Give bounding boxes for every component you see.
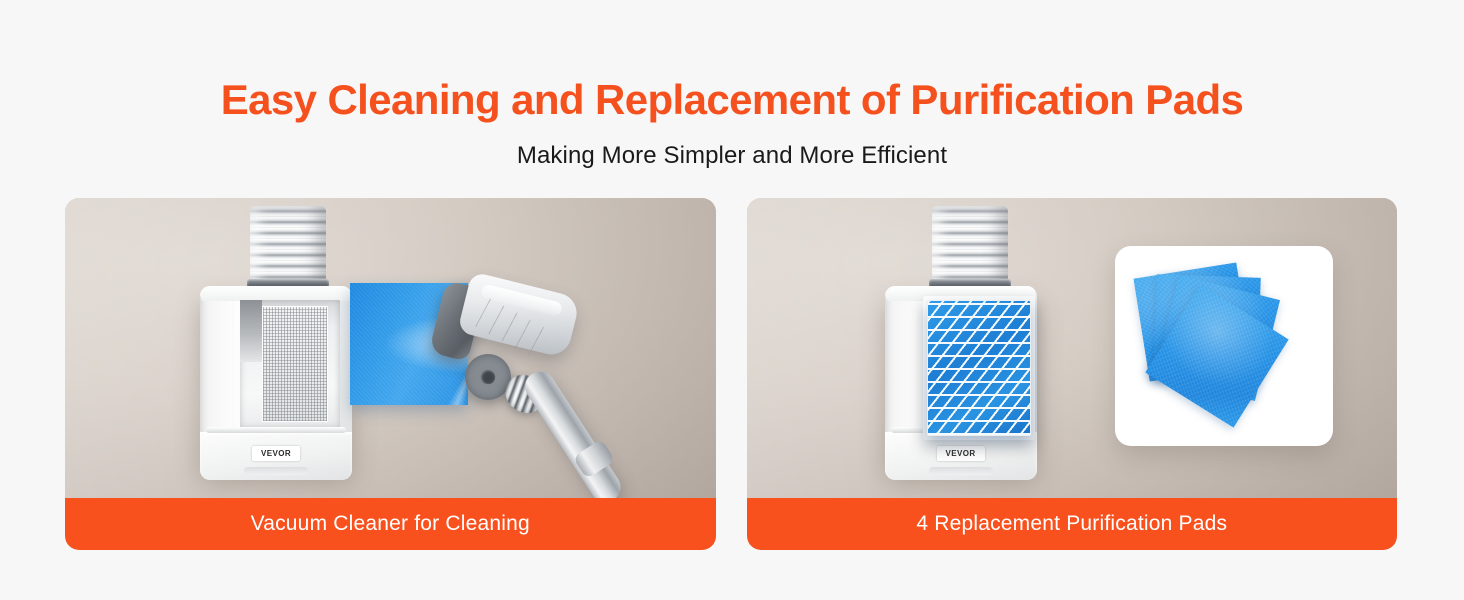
brand-label-vevor: VEVOR [252, 446, 300, 461]
purifier-open-cavity [240, 300, 340, 428]
panel-caption-right: 4 Replacement Purification Pads [747, 498, 1398, 550]
panel-vacuum-cleaning[interactable]: VEVOR Vacuum Cleaner for Cleaning [65, 198, 716, 550]
panel-replacement-pads[interactable]: VEVOR 4 Replacement Purification Pads [747, 198, 1398, 550]
tray-vent-slot [929, 467, 993, 475]
panel-caption-right-text: 4 Replacement Purification Pads [916, 512, 1227, 536]
header: Easy Cleaning and Replacement of Purific… [0, 0, 1464, 170]
cavity-mesh-screen [262, 306, 328, 422]
panel-caption-left: Vacuum Cleaner for Cleaning [65, 498, 716, 550]
purifier-bottom-tray: VEVOR [200, 432, 352, 480]
tray-lip [206, 427, 346, 433]
panel-caption-left-text: Vacuum Cleaner for Cleaning [251, 512, 530, 536]
flexible-duct-icon [932, 206, 1008, 288]
feature-panels: VEVOR Vacuum Cleaner for Cleaning [65, 198, 1397, 550]
brand-label-vevor: VEVOR [937, 446, 985, 461]
tray-vent-slot [244, 467, 308, 475]
page-subtitle: Making More Simpler and More Efficient [0, 142, 1464, 170]
replacement-pads-card [1115, 246, 1333, 446]
blue-honeycomb-filter [927, 300, 1031, 436]
purifier-top-cap [201, 286, 351, 301]
page-title: Easy Cleaning and Replacement of Purific… [0, 78, 1464, 122]
cavity-shadow [240, 300, 262, 362]
flexible-duct-icon [250, 206, 326, 288]
